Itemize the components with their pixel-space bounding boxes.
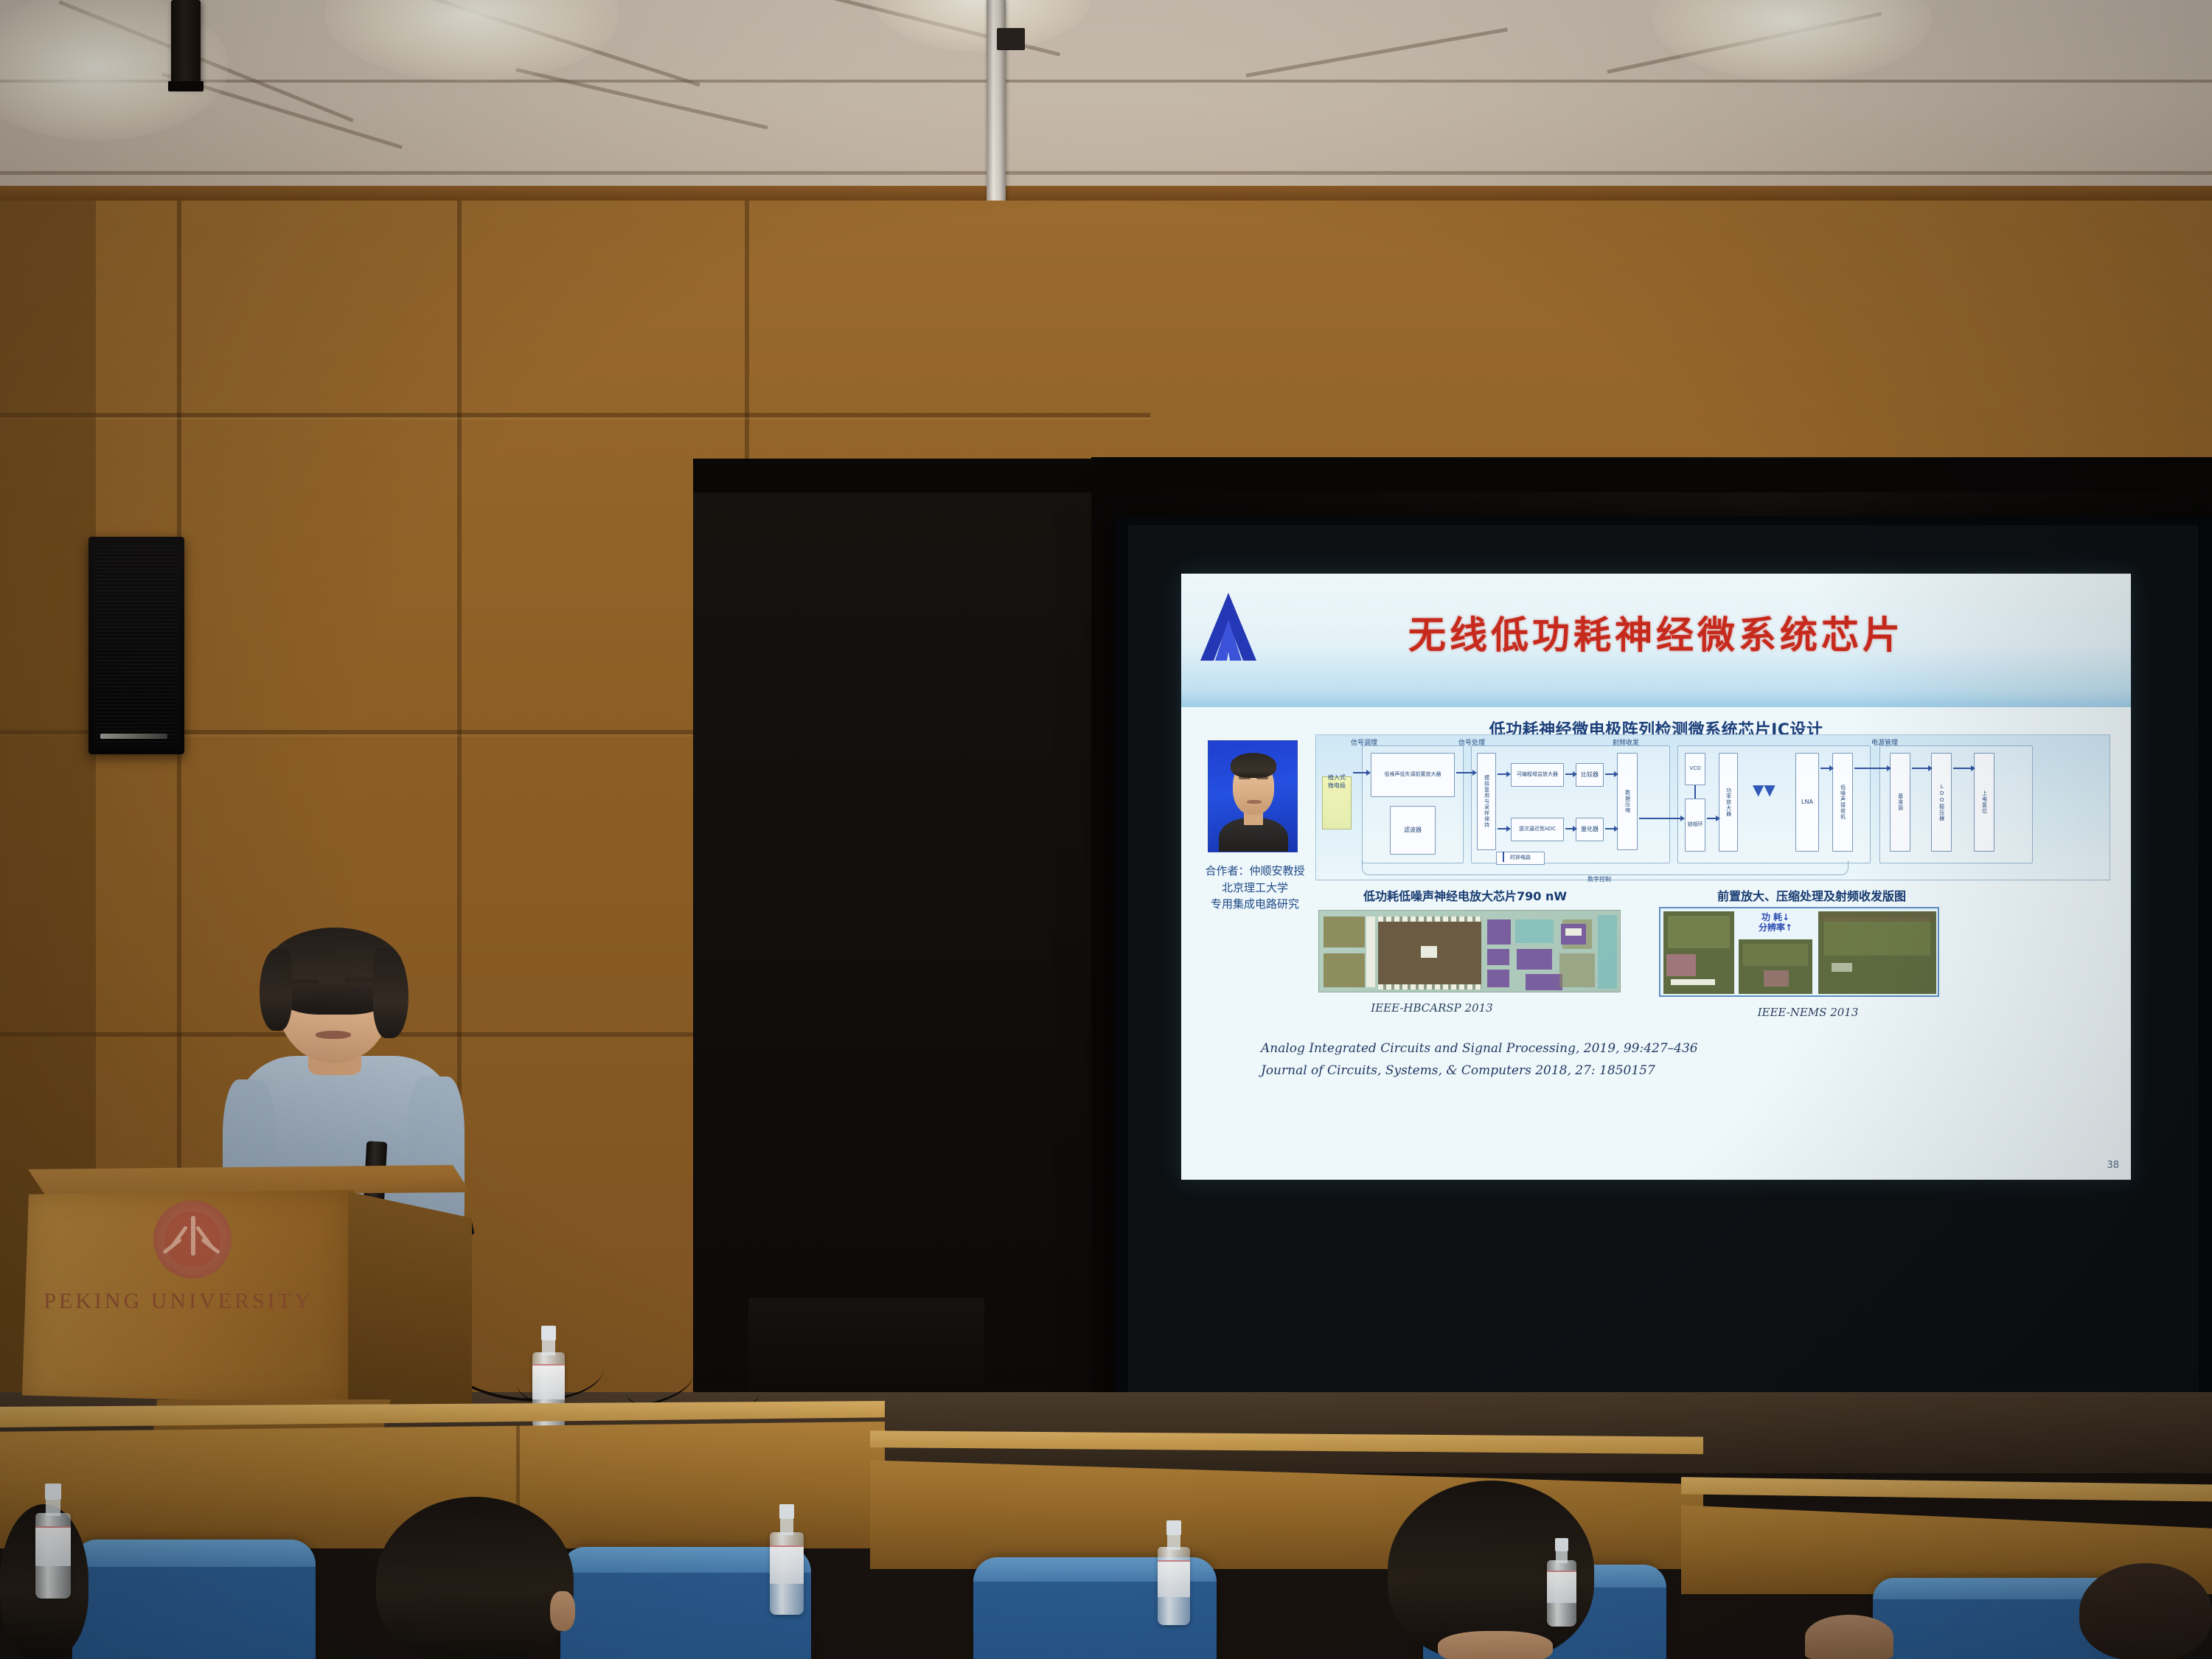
diagram-arrow bbox=[1707, 818, 1717, 819]
diagram-block-ldo: LDO稳压器 bbox=[1931, 753, 1952, 852]
diagram-block-lna: LNA bbox=[1795, 753, 1819, 852]
reference-line-1: Analog Integrated Circuits and Signal Pr… bbox=[1261, 1041, 1698, 1056]
wall-highlight bbox=[0, 417, 1150, 420]
audience-head bbox=[2079, 1563, 2212, 1659]
stage-curtain-left bbox=[693, 472, 1106, 1423]
diagram-bus-label: 数字控制 bbox=[1203, 875, 1996, 883]
diagram-arrow bbox=[1912, 768, 1930, 769]
layout-annotation: 功 耗↓ 分辨率↑ bbox=[1737, 913, 1814, 933]
collaborator-line-3: 专用集成电路研究 bbox=[1192, 896, 1318, 913]
diagram-block-pga-2: 逐次逼近型ADC bbox=[1511, 818, 1564, 841]
diagram-block-comparator-2: 量化器 bbox=[1576, 818, 1604, 841]
podium-institution-label: PEKING UNIVERSITY bbox=[1, 1289, 355, 1314]
water-bottle bbox=[35, 1484, 71, 1599]
diagram-block-pga-1: 可编程增益放大器 bbox=[1511, 763, 1564, 787]
diagram-arrow bbox=[1565, 773, 1574, 775]
desk-edge bbox=[870, 1429, 1703, 1457]
audience-head bbox=[376, 1497, 574, 1659]
figure-source-1: IEEE-HBCARSP 2013 bbox=[1321, 1001, 1543, 1015]
presenter-hair-side bbox=[260, 948, 292, 1031]
diagram-block-comparator-1: 比较器 bbox=[1576, 763, 1604, 787]
presenter-brow bbox=[291, 979, 319, 984]
layout-annotation-line-2: 分辨率↑ bbox=[1737, 923, 1814, 933]
diagram-arrow bbox=[1498, 773, 1508, 775]
speaker-grille bbox=[94, 546, 178, 745]
pku-seal bbox=[153, 1200, 232, 1279]
diagram-block-rx: 低噪声接收机 bbox=[1832, 753, 1853, 852]
bottle-cap bbox=[45, 1484, 60, 1500]
presenter-brow bbox=[345, 978, 373, 982]
layout-annotation-line-1: 功 耗↓ bbox=[1737, 913, 1814, 923]
slide-title: 无线低功耗神经微系统芯片 bbox=[1181, 605, 2131, 659]
diagram-arrow bbox=[1605, 828, 1615, 829]
bottle-label bbox=[1547, 1571, 1576, 1603]
diagram-arrow bbox=[1639, 818, 1682, 819]
presenter-eye bbox=[349, 988, 369, 995]
bottle-label bbox=[532, 1364, 565, 1399]
stage-curtain-topband bbox=[693, 459, 2212, 493]
diagram-arrow bbox=[1953, 768, 1972, 769]
audience-head-partial bbox=[1805, 1615, 1893, 1659]
diagram-block-compression: 数据压缩 bbox=[1617, 753, 1638, 850]
figure-caption-2: 前置放大、压缩处理及射频收发版图 bbox=[1653, 886, 1970, 904]
figure-caption-1: 低功耗低噪声神经电放大芯片790 nW bbox=[1307, 886, 1624, 904]
presenter-mouth bbox=[316, 1031, 351, 1039]
diagram-arrow bbox=[1498, 828, 1508, 829]
diagram-block-bandgap: 基准源 bbox=[1890, 753, 1910, 852]
podium-side-panel bbox=[348, 1183, 472, 1404]
bottle-cap bbox=[541, 1326, 555, 1340]
presenter-eye bbox=[296, 990, 316, 996]
figure-source-2: IEEE-NEMS 2013 bbox=[1697, 1006, 1919, 1019]
water-bottle bbox=[770, 1504, 804, 1615]
speaker-badge bbox=[100, 734, 167, 739]
diagram-block-pa: 功率放大器 bbox=[1719, 753, 1738, 852]
lecture-hall-photo: AIMI 无线低功耗神经微系统芯片 低功耗神经微电极阵列检测微系统芯片IC设计 … bbox=[0, 0, 2212, 1659]
collaborator-portrait bbox=[1208, 740, 1298, 852]
diagram-arrow bbox=[1456, 772, 1474, 773]
audience-ear bbox=[550, 1591, 575, 1631]
diagram-arrow bbox=[1565, 828, 1574, 829]
slide-number: 38 bbox=[2107, 1160, 2119, 1171]
diagram-group-2 bbox=[1471, 745, 1670, 863]
bottle-label bbox=[1158, 1560, 1190, 1597]
diagram-block-mux: 模拟复用与采样保持 bbox=[1477, 753, 1496, 850]
chip-layout-photo: 功 耗↓ 分辨率↑ bbox=[1659, 907, 1939, 997]
bottle-cap bbox=[1555, 1538, 1568, 1551]
diagram-block-preamp: 低噪声低失调前置放大器 bbox=[1371, 753, 1455, 797]
bottle-label bbox=[35, 1526, 71, 1566]
presenter-hair-side bbox=[373, 948, 408, 1038]
hanging-bar-cap bbox=[168, 81, 204, 91]
hanging-bar bbox=[171, 0, 201, 87]
diagram-arrow bbox=[1820, 768, 1831, 769]
system-block-diagram: 植入式微电极 信号调理 低噪声低失调前置放大器 滤波器 信号处理 模拟复用与采样… bbox=[1315, 734, 2110, 880]
aimi-logo-text: AIMI bbox=[1181, 668, 1268, 678]
bottle-label bbox=[770, 1545, 804, 1584]
wall-trim bbox=[0, 186, 2212, 201]
seat-top-band bbox=[72, 1540, 316, 1567]
desk-edge bbox=[1681, 1475, 2212, 1504]
diagram-arrow bbox=[1353, 772, 1368, 773]
water-bottle bbox=[1158, 1520, 1190, 1625]
bottle-cap bbox=[779, 1504, 794, 1519]
diagram-arrow bbox=[1854, 768, 1888, 769]
diagram-block-pll: 锁相环 bbox=[1685, 799, 1705, 852]
water-bottle bbox=[1547, 1538, 1576, 1627]
audience-neck bbox=[1438, 1631, 1553, 1659]
diagram-arrow bbox=[1605, 773, 1615, 775]
diagram-block-vco: VCO bbox=[1685, 753, 1705, 785]
audience-seat[interactable] bbox=[72, 1540, 316, 1659]
reference-line-2: Journal of Circuits, Systems, & Computer… bbox=[1261, 1063, 1655, 1078]
diagram-block-por: 上电复位 bbox=[1974, 753, 1994, 852]
diagram-control-bus bbox=[1362, 860, 1848, 875]
diagram-arrow-vertical bbox=[1694, 785, 1696, 799]
chip-die-photo bbox=[1318, 910, 1621, 992]
antenna-icon: ▼▼ bbox=[1753, 781, 1775, 799]
wall-speaker bbox=[88, 537, 184, 754]
projected-slide: AIMI 无线低功耗神经微系统芯片 低功耗神经微电极阵列检测微系统芯片IC设计 … bbox=[1181, 574, 2131, 1180]
diagram-group-4-label: 电源管理 bbox=[1488, 737, 2131, 747]
bottle-cap bbox=[1166, 1520, 1180, 1535]
podium-top-surface bbox=[28, 1165, 470, 1196]
portrait-mouth bbox=[1247, 800, 1262, 804]
projector-pole-bracket bbox=[997, 28, 1025, 50]
diagram-block-filter: 滤波器 bbox=[1390, 806, 1436, 855]
collaborator-info: 合作者：仲顺安教授 北京理工大学 专用集成电路研究 bbox=[1192, 863, 1318, 913]
